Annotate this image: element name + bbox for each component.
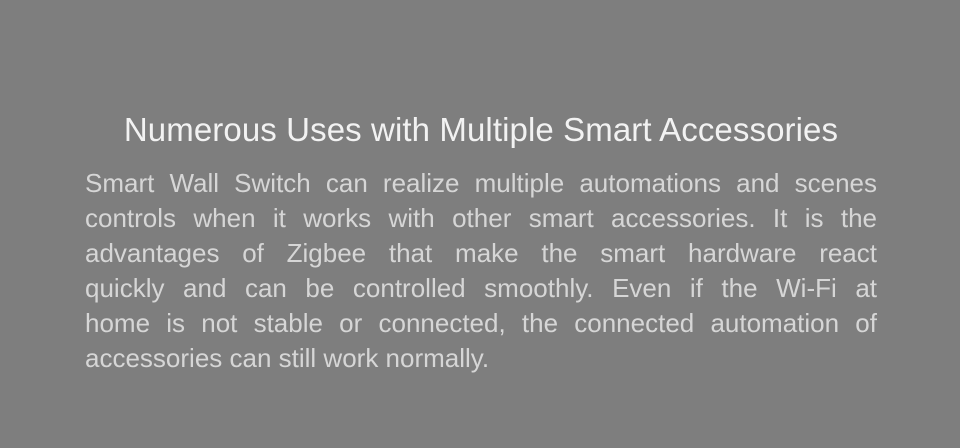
page-title: Numerous Uses with Multiple Smart Access… <box>85 110 877 150</box>
description-line: Smart Wall Switch can realize multiple a… <box>85 166 877 201</box>
promo-panel: Numerous Uses with Multiple Smart Access… <box>0 0 960 448</box>
promo-description: Smart Wall Switch can realize multiple a… <box>85 166 877 411</box>
description-line: advantages of Zigbee that make the smart… <box>85 236 877 271</box>
description-line: home is not stable or connected, the con… <box>85 306 877 341</box>
description-line: controls when it works with other smart … <box>85 201 877 236</box>
description-line: quickly and can be controlled smoothly. … <box>85 271 877 306</box>
description-line: accessories can still work normally. <box>85 341 877 376</box>
content-block: Numerous Uses with Multiple Smart Access… <box>85 0 877 448</box>
